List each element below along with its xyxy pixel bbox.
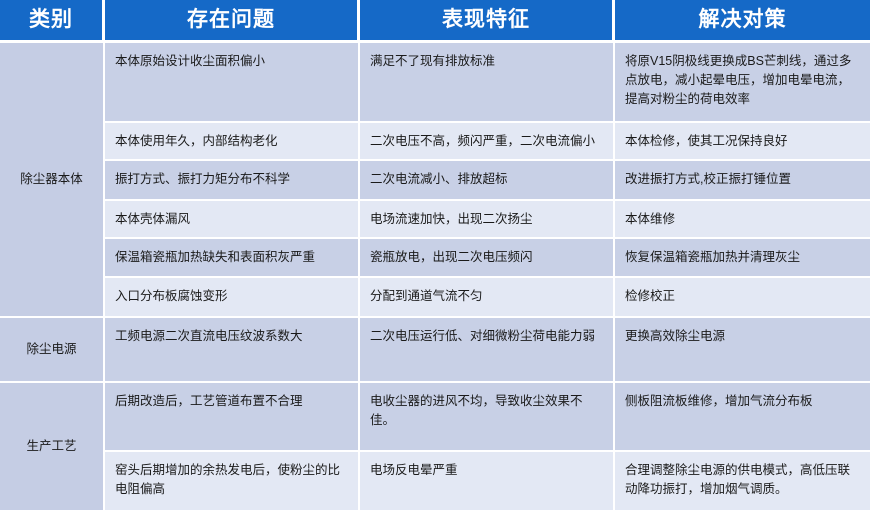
header-row: 类别 存在问题 表现特征 解决对策 <box>0 0 870 43</box>
cell-characteristic: 电收尘器的进风不均，导致收尘效果不佳。 <box>360 383 615 452</box>
cell-characteristic: 二次电压运行低、对细微粉尘荷电能力弱 <box>360 318 615 383</box>
cell-problem: 本体使用年久，内部结构老化 <box>105 123 360 161</box>
cell-countermeasure: 恢复保温箱瓷瓶加热并清理灰尘 <box>615 239 870 278</box>
header-category: 类别 <box>0 0 105 43</box>
cell-characteristic: 二次电流减小、排放超标 <box>360 161 615 201</box>
table-header: 类别 存在问题 表现特征 解决对策 <box>0 0 870 43</box>
header-existing-problem: 存在问题 <box>105 0 360 43</box>
table-row: 振打方式、振打力矩分布不科学 二次电流减小、排放超标 改进振打方式,校正振打锤位… <box>0 161 870 201</box>
category-cell-production-process: 生产工艺 <box>0 383 105 512</box>
cell-countermeasure: 合理调整除尘电源的供电模式，高低压联动降功振打，增加烟气调质。 <box>615 452 870 512</box>
cell-characteristic: 电场反电晕严重 <box>360 452 615 512</box>
cell-problem: 窑头后期增加的余热发电后，使粉尘的比电阻偏高 <box>105 452 360 512</box>
cell-problem: 工频电源二次直流电压纹波系数大 <box>105 318 360 383</box>
cell-countermeasure: 更换高效除尘电源 <box>615 318 870 383</box>
cell-characteristic: 满足不了现有排放标准 <box>360 43 615 123</box>
cell-problem: 本体壳体漏风 <box>105 201 360 239</box>
cell-characteristic: 二次电压不高，频闪严重，二次电流偏小 <box>360 123 615 161</box>
table-row: 生产工艺 后期改造后，工艺管道布置不合理 电收尘器的进风不均，导致收尘效果不佳。… <box>0 383 870 452</box>
category-cell-dust-collector-body: 除尘器本体 <box>0 43 105 318</box>
cell-countermeasure: 将原V15阴极线更换成BS芒刺线，通过多点放电，减小起晕电压，增加电晕电流，提高… <box>615 43 870 123</box>
cell-countermeasure: 侧板阻流板维修，增加气流分布板 <box>615 383 870 452</box>
table-row: 本体壳体漏风 电场流速加快，出现二次扬尘 本体维修 <box>0 201 870 239</box>
header-countermeasures: 解决对策 <box>615 0 870 43</box>
table-body: 除尘器本体 本体原始设计收尘面积偏小 满足不了现有排放标准 将原V15阴极线更换… <box>0 43 870 512</box>
table-row: 入口分布板腐蚀变形 分配到通道气流不匀 检修校正 <box>0 278 870 318</box>
cell-problem: 振打方式、振打力矩分布不科学 <box>105 161 360 201</box>
header-characteristics: 表现特征 <box>360 0 615 43</box>
cell-countermeasure: 改进振打方式,校正振打锤位置 <box>615 161 870 201</box>
cell-countermeasure: 本体检修，使其工况保持良好 <box>615 123 870 161</box>
table-row: 保温箱瓷瓶加热缺失和表面积灰严重 瓷瓶放电，出现二次电压频闪 恢复保温箱瓷瓶加热… <box>0 239 870 278</box>
cell-countermeasure: 本体维修 <box>615 201 870 239</box>
table-row: 除尘电源 工频电源二次直流电压纹波系数大 二次电压运行低、对细微粉尘荷电能力弱 … <box>0 318 870 383</box>
table-row: 除尘器本体 本体原始设计收尘面积偏小 满足不了现有排放标准 将原V15阴极线更换… <box>0 43 870 123</box>
cell-characteristic: 分配到通道气流不匀 <box>360 278 615 318</box>
data-table: 类别 存在问题 表现特征 解决对策 除尘器本体 本体原始设计收尘面积偏小 满足不… <box>0 0 870 512</box>
cell-countermeasure: 检修校正 <box>615 278 870 318</box>
table-row: 窑头后期增加的余热发电后，使粉尘的比电阻偏高 电场反电晕严重 合理调整除尘电源的… <box>0 452 870 512</box>
cell-characteristic: 瓷瓶放电，出现二次电压频闪 <box>360 239 615 278</box>
issue-countermeasure-table: 类别 存在问题 表现特征 解决对策 除尘器本体 本体原始设计收尘面积偏小 满足不… <box>0 0 870 512</box>
cell-problem: 保温箱瓷瓶加热缺失和表面积灰严重 <box>105 239 360 278</box>
cell-problem: 入口分布板腐蚀变形 <box>105 278 360 318</box>
cell-characteristic: 电场流速加快，出现二次扬尘 <box>360 201 615 239</box>
cell-problem: 本体原始设计收尘面积偏小 <box>105 43 360 123</box>
category-cell-power-supply: 除尘电源 <box>0 318 105 383</box>
cell-problem: 后期改造后，工艺管道布置不合理 <box>105 383 360 452</box>
table-row: 本体使用年久，内部结构老化 二次电压不高，频闪严重，二次电流偏小 本体检修，使其… <box>0 123 870 161</box>
